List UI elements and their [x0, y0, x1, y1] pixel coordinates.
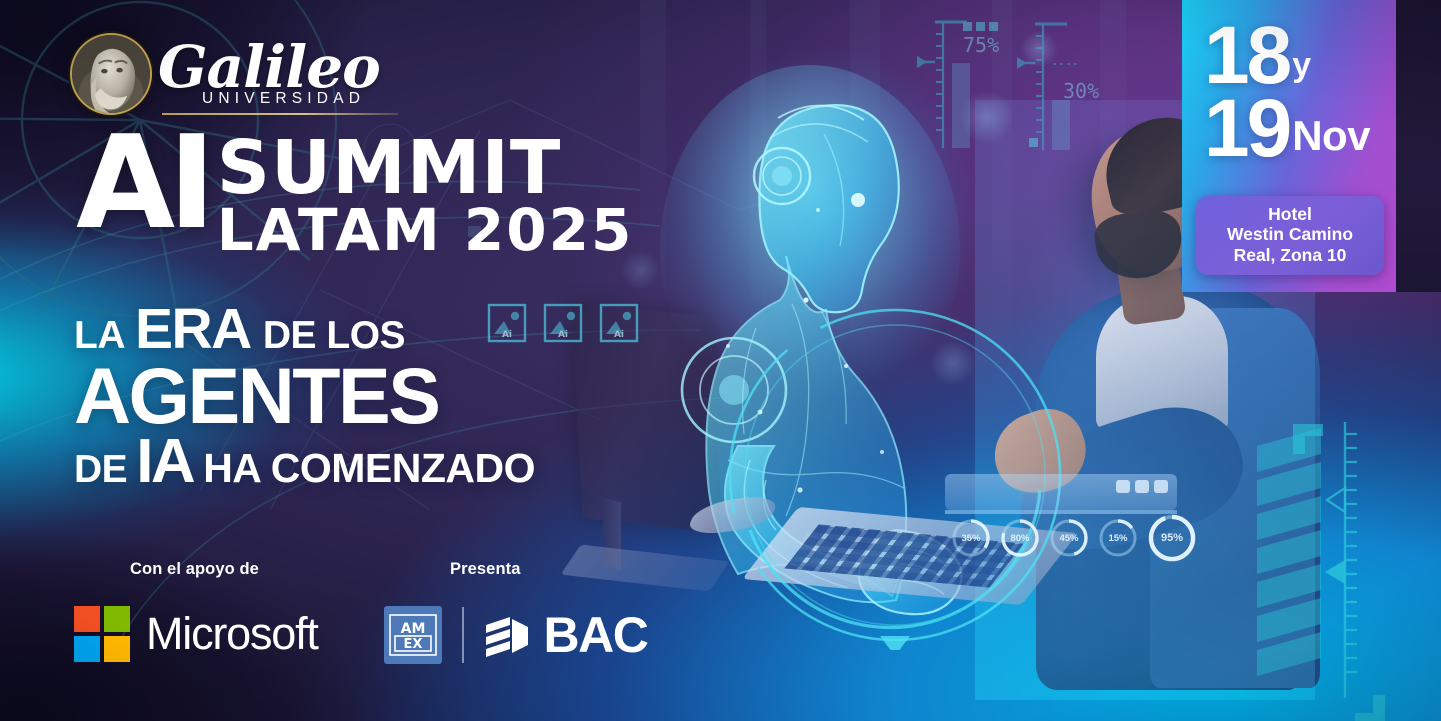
event-banner: 75% 30% Ai Ai: [0, 0, 1441, 721]
background-vignette: [0, 0, 1441, 721]
